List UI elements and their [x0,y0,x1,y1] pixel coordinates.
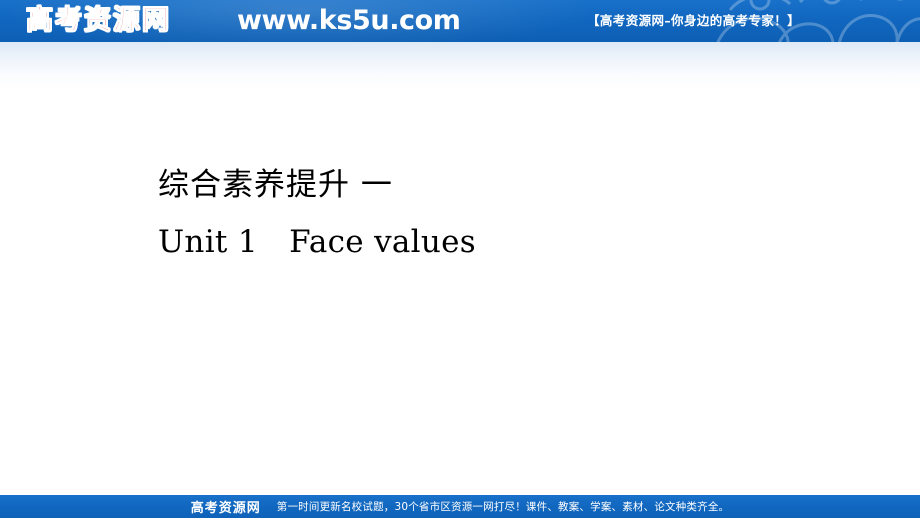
footer-logo-chinese: 高考资源网 [191,497,261,516]
page-title-chinese: 综合素养提升 一 [158,164,476,206]
title-block: 综合素养提升 一 Unit 1 Face values [158,164,476,264]
footer-note-text: 第一时间更新名校试题，30个省市区资源一网打尽！课件、教案、学案、素材、论文种类… [277,499,729,514]
slide-body: 综合素养提升 一 Unit 1 Face values [0,88,920,495]
slide-canvas: 高考资源网 www.ks5u.com 【高考资源网–你身边的高考专家！】 综合素… [0,0,920,518]
site-tagline: 【高考资源网–你身边的高考专家！】 [587,12,800,30]
header-gradient-fade [0,42,920,88]
footer-content: 高考资源网 第一时间更新名校试题，30个省市区资源一网打尽！课件、教案、学案、素… [0,495,920,518]
footer-banner: 高考资源网 第一时间更新名校试题，30个省市区资源一网打尽！课件、教案、学案、素… [0,495,920,518]
site-logo-chinese[interactable]: 高考资源网 [26,5,171,37]
page-title-english: Unit 1 Face values [158,220,476,264]
site-url-text[interactable]: www.ks5u.com [237,6,461,36]
header-banner: 高考资源网 www.ks5u.com 【高考资源网–你身边的高考专家！】 [0,0,920,42]
